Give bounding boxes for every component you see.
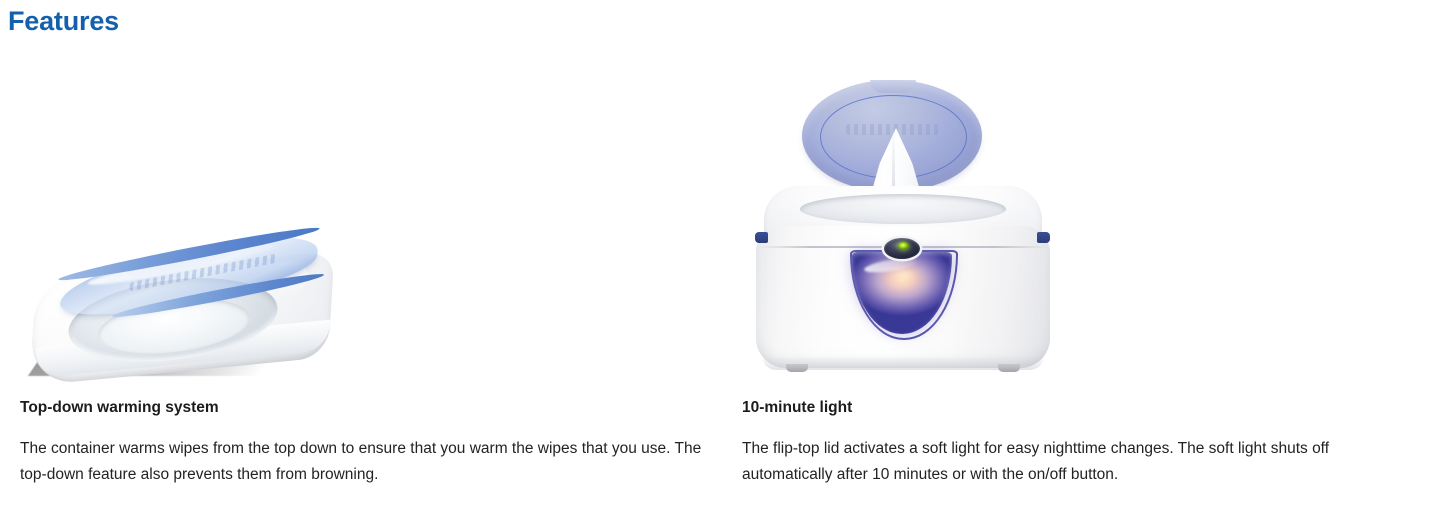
feature-item-10-minute-light: 10-minute light The flip-top lid activat… <box>742 58 1422 507</box>
feature-image-top-down-warming-system <box>20 58 720 388</box>
warmer-foot-left <box>786 364 808 372</box>
warmer-hinge-left <box>755 232 768 243</box>
feature-image-10-minute-light <box>742 58 1438 388</box>
features-grid: Top-down warming system The container wa… <box>0 58 1438 507</box>
feature-body-10-minute-light: The flip-top lid activates a soft light … <box>742 436 1418 488</box>
feature-body-top-down-warming-system: The container warms wipes from the top d… <box>20 436 712 488</box>
feature-heading-10-minute-light: 10-minute light <box>742 398 852 417</box>
warmer-top-opening-rim <box>800 194 1006 224</box>
warmer-power-led-indicator <box>898 242 909 250</box>
wipe-warmer-night-light-photo <box>742 68 1062 388</box>
warmer-hinge-right <box>1037 232 1050 243</box>
feature-item-top-down-warming-system: Top-down warming system The container wa… <box>20 58 720 507</box>
wipe-warmer-top-down-photo <box>20 238 342 380</box>
page-title: Features <box>8 4 119 38</box>
feature-heading-top-down-warming-system: Top-down warming system <box>20 398 219 417</box>
warmer-lid-notch <box>870 80 916 93</box>
warmer-foot-right <box>998 364 1020 372</box>
